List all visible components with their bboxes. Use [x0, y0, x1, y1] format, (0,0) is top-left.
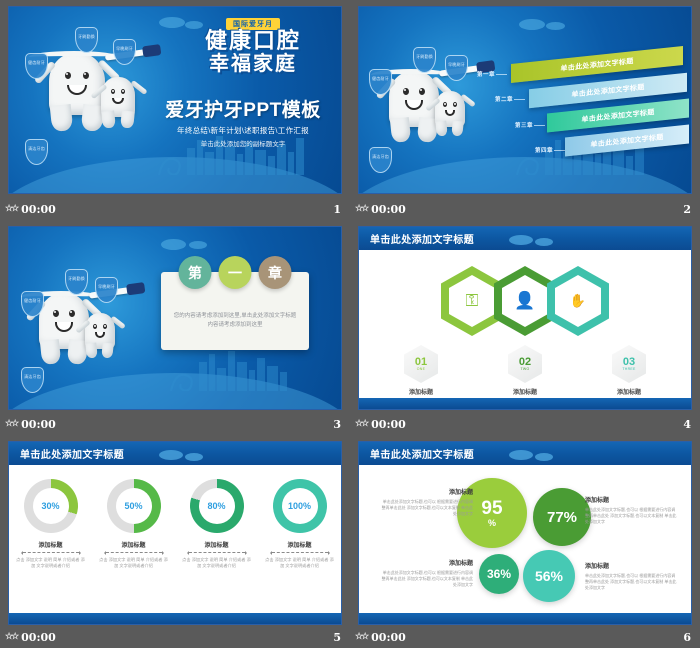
pie-text-block-3: 添加标题 单击此处添加文字标题,也可以 根据需要进行内容调整再单击此处 添加文字… [381, 558, 473, 588]
pie-description: 单击此处添加文字标题,也可以 根据需要进行内容调整再单击此处 添加文字标题,也可… [585, 507, 677, 525]
slide-1[interactable]: 健齿耐牙 牙刷勤换 早晚刷牙 清洁牙齿 国际爱牙月 健康口腔 幸福家庭 爱牙护牙… [8, 6, 342, 194]
donut-description: 点击 添加文字 说明 简单 介绍或者 添加 文字说明或者介绍 [99, 557, 169, 569]
star-icon: ☆☆ [355, 632, 367, 642]
slide-cell-3[interactable]: 健齿耐牙 牙刷勤换 早晚刷牙 清洁牙齿 第 一 章 您的内容请考虑添加到这里,单… [0, 220, 350, 435]
pie-circle-36[interactable]: 36% [479, 554, 519, 594]
cloud-shape [159, 450, 183, 460]
donut-description: 点击 添加文字 说明 简单 介绍或者 添加 文字说明或者介绍 [16, 557, 86, 569]
pie-value: 77% [547, 510, 577, 525]
ribbon-label-1: 第一章 [477, 70, 495, 78]
pie-circle-56[interactable]: 56% [523, 550, 575, 602]
pie-description: 单击此处添加文字标题,也可以 根据需要进行内容调整再单击此处 添加文字标题,也可… [381, 499, 473, 517]
pie-cluster: 95 % 77% 36% 56% [461, 478, 589, 606]
tooth-mascot-small [435, 91, 465, 135]
item-number-label: ONE [417, 367, 426, 371]
slide-1-subtitle-2: 单击此处添加您的副标题文字 [153, 138, 333, 148]
star-icon: ☆☆ [355, 204, 367, 214]
donut-item[interactable]: 30% 添加标题 点击 添加文字 说明 简单 介绍或者 添加 文字说明或者介绍 [16, 479, 86, 569]
slide-4-title: 单击此处添加文字标题 [370, 231, 474, 246]
donut-chart-100: 100% [273, 479, 327, 533]
slide-timer: 00:00 [21, 631, 56, 644]
cloud-shape [185, 453, 203, 461]
divider [23, 552, 79, 553]
slide-timer: 00:00 [371, 631, 406, 644]
cloud-shape [509, 450, 533, 460]
slide-1-subtitle-1: 年终总结\新年计划\述职报告\工作汇报 [153, 125, 333, 136]
chapter-char-3: 章 [259, 256, 292, 289]
slide-1-title: 爱牙护牙PPT模板 [153, 95, 333, 122]
item-caption: 添加标题 [493, 387, 557, 396]
pie-text-block-4: 添加标题 单击此处添加文字标题,也可以 根据需要进行内容调整再单击此处 添加文字… [585, 561, 677, 591]
cloud-shape [519, 19, 545, 30]
dental-chair-icon: ⚿ [449, 275, 495, 327]
chapter-circles: 第 一 章 [179, 256, 292, 289]
slide-6[interactable]: 单击此处添加文字标题 95 % 77% 36% [358, 441, 692, 625]
number-hexagon-1: 01 ONE [404, 345, 438, 383]
slide-cell-2[interactable]: 健齿耐牙 牙刷勤换 早晚刷牙 清洁牙齿 第一章 单击此处添加文字标题 第二章 单… [350, 0, 700, 220]
ribbon-label-2: 第二章 [495, 95, 513, 103]
slide-6-title: 单击此处添加文字标题 [370, 446, 474, 461]
hexagon-2[interactable]: 👤 [494, 266, 556, 336]
slide-cell-1[interactable]: 健齿耐牙 牙刷勤换 早晚刷牙 清洁牙齿 国际爱牙月 健康口腔 幸福家庭 爱牙护牙… [0, 0, 350, 220]
slide-4-footer-bar [359, 398, 691, 409]
pie-caption: 添加标题 [381, 558, 473, 567]
cloud-shape [535, 453, 553, 461]
item-caption: 添加标题 [597, 387, 661, 396]
donut-caption: 添加标题 [182, 540, 252, 549]
chapter-card[interactable]: 第 一 章 您的内容请考虑添加到这里,单击此处添加文字标题内容请考虑添加到这里 [161, 272, 309, 350]
pie-value: 36% [487, 568, 511, 580]
slide-number: 4 [683, 418, 691, 431]
slide-cell-4[interactable]: 单击此处添加文字标题 ⚿ 👤 ✋ [350, 220, 700, 435]
slide-2[interactable]: 健齿耐牙 牙刷勤换 早晚刷牙 清洁牙齿 第一章 单击此处添加文字标题 第二章 单… [358, 6, 692, 194]
slide-4-footer: ☆☆00:00 4 [350, 413, 700, 435]
pie-value: 95 [481, 499, 502, 518]
ribbon-4[interactable]: 单击此处添加文字标题 [565, 124, 689, 156]
donut-item[interactable]: 50% 添加标题 点击 添加文字 说明 简单 介绍或者 添加 文字说明或者介绍 [99, 479, 169, 569]
slide-2-footer: ☆☆00:00 2 [350, 198, 700, 220]
slide-1-title-block: 爱牙护牙PPT模板 年终总结\新年计划\述职报告\工作汇报 单击此处添加您的副标… [153, 95, 333, 148]
pie-caption: 添加标题 [585, 495, 677, 504]
pie-circle-77[interactable]: 77% [533, 488, 591, 546]
hexagon-row: ⚿ 👤 ✋ [441, 266, 609, 336]
item-caption: 添加标题 [389, 387, 453, 396]
star-icon: ☆☆ [5, 204, 17, 214]
slide-6-header: 单击此处添加文字标题 [359, 442, 691, 465]
ribbon-chart: 第一章 单击此处添加文字标题 第二章 单击此处添加文字标题 第三章 单击此处添加… [477, 43, 687, 153]
slide-number: 1 [333, 203, 341, 216]
star-icon: ☆☆ [5, 419, 17, 429]
banner-line-1: 健康口腔 [175, 31, 331, 53]
donut-item[interactable]: 100% 添加标题 点击 添加文字 说明 简单 介绍或者 添加 文字说明或者介绍 [265, 479, 335, 569]
slide-5-footer: ☆☆00:00 5 [0, 626, 350, 648]
star-icon: ☆☆ [5, 632, 17, 642]
pie-description: 单击此处添加文字标题,也可以 根据需要进行内容调整再单击此处 添加文字标题,也可… [585, 573, 677, 591]
donut-value: 100% [282, 488, 318, 524]
star-icon: ☆☆ [355, 419, 367, 429]
chapter-char-2: 一 [219, 256, 252, 289]
slide-timer: 00:00 [371, 203, 406, 216]
item-number: 01 [415, 357, 427, 367]
slide-number: 6 [683, 631, 691, 644]
hexagon-1[interactable]: ⚿ [441, 266, 503, 336]
slide-cell-6[interactable]: 单击此处添加文字标题 95 % 77% 36% [350, 435, 700, 648]
pie-caption: 添加标题 [381, 487, 473, 496]
slide-cell-5[interactable]: 单击此处添加文字标题 30% 添加标题 点击 添加文字 说明 简单 介绍或者 添… [0, 435, 350, 648]
item-number: 02 [519, 357, 531, 367]
donut-value: 50% [116, 488, 152, 524]
pie-text-block-1: 添加标题 单击此处添加文字标题,也可以 根据需要进行内容调整再单击此处 添加文字… [381, 487, 473, 517]
item-number-label: THREE [622, 367, 635, 371]
pie-percent-sign: % [488, 518, 496, 528]
caring-hand-icon: ✋ [555, 275, 601, 327]
pie-text-block-2: 添加标题 单击此处添加文字标题,也可以 根据需要进行内容调整再单击此处 添加文字… [585, 495, 677, 525]
divider [106, 552, 162, 553]
slide-6-body: 95 % 77% 36% 56% 添加标题 单击此处添加文字标题,也可以 [359, 465, 691, 613]
slide-6-footer-bar [359, 613, 691, 624]
ribbon-label-3: 第三章 [515, 121, 533, 129]
donut-description: 点击 添加文字 说明 简单 介绍或者 添加 文字说明或者介绍 [265, 557, 335, 569]
chapter-body-text: 您的内容请考虑添加到这里,单击此处添加文字标题内容请考虑添加到这里 [173, 312, 297, 330]
cloud-shape [189, 241, 207, 249]
donut-description: 点击 添加文字 说明 简单 介绍或者 添加 文字说明或者介绍 [182, 557, 252, 569]
tooth-mascot-small [85, 313, 115, 357]
slide-4-header: 单击此处添加文字标题 [359, 227, 691, 250]
donut-value: 30% [33, 488, 69, 524]
slide-number: 2 [683, 203, 691, 216]
banner-line-2: 幸福家庭 [175, 53, 331, 74]
tooth-mascot-small [101, 77, 135, 125]
donut-chart-30: 30% [24, 479, 78, 533]
cloud-shape [509, 235, 533, 245]
headline-banner: 国际爱牙月 健康口腔 幸福家庭 [175, 13, 331, 74]
item-number-label: TWO [520, 367, 529, 371]
donut-chart-80: 80% [190, 479, 244, 533]
donut-chart-row: 30% 添加标题 点击 添加文字 说明 简单 介绍或者 添加 文字说明或者介绍 … [9, 479, 341, 569]
slide-1-footer: ☆☆00:00 1 [0, 198, 350, 220]
slide-3[interactable]: 健齿耐牙 牙刷勤换 早晚刷牙 清洁牙齿 第 一 章 您的内容请考虑添加到这里,单… [8, 226, 342, 410]
divider [272, 552, 328, 553]
slide-number: 5 [333, 631, 341, 644]
pie-caption: 添加标题 [585, 561, 677, 570]
item-number: 03 [623, 357, 635, 367]
pie-value: 56% [535, 569, 563, 583]
donut-item[interactable]: 80% 添加标题 点击 添加文字 说明 简单 介绍或者 添加 文字说明或者介绍 [182, 479, 252, 569]
donut-caption: 添加标题 [99, 540, 169, 549]
donut-value: 80% [199, 488, 235, 524]
cloud-shape [546, 22, 565, 30]
divider [189, 552, 245, 553]
slide-thumbnail-grid: 健齿耐牙 牙刷勤换 早晚刷牙 清洁牙齿 国际爱牙月 健康口腔 幸福家庭 爱牙护牙… [0, 0, 700, 648]
slide-timer: 00:00 [21, 203, 56, 216]
cloud-shape [535, 238, 553, 246]
dentist-person-icon: 👤 [502, 275, 548, 327]
slide-timer: 00:00 [21, 418, 56, 431]
slide-5-header: 单击此处添加文字标题 [9, 442, 341, 465]
hexagon-3[interactable]: ✋ [547, 266, 609, 336]
donut-caption: 添加标题 [265, 540, 335, 549]
slide-timer: 00:00 [371, 418, 406, 431]
slide-5[interactable]: 单击此处添加文字标题 30% 添加标题 点击 添加文字 说明 简单 介绍或者 添… [8, 441, 342, 625]
ribbon-label-4: 第四章 [535, 146, 553, 154]
slide-5-title: 单击此处添加文字标题 [20, 446, 124, 461]
number-hexagon-3: 03 THREE [612, 345, 646, 383]
donut-chart-50: 50% [107, 479, 161, 533]
slide-number: 3 [333, 418, 341, 431]
pie-description: 单击此处添加文字标题,也可以 根据需要进行内容调整再单击此处 添加文字标题,也可… [381, 570, 473, 588]
slide-4-body: ⚿ 👤 ✋ 01 ONE 添加标题 [359, 250, 691, 398]
slide-6-footer: ☆☆00:00 6 [350, 626, 700, 648]
donut-caption: 添加标题 [16, 540, 86, 549]
number-hexagon-2: 02 TWO [508, 345, 542, 383]
slide-5-footer-bar [9, 613, 341, 624]
slide-4[interactable]: 单击此处添加文字标题 ⚿ 👤 ✋ [358, 226, 692, 410]
slide-5-body: 30% 添加标题 点击 添加文字 说明 简单 介绍或者 添加 文字说明或者介绍 … [9, 465, 341, 613]
chapter-char-1: 第 [179, 256, 212, 289]
slide-3-footer: ☆☆00:00 3 [0, 413, 350, 435]
cloud-shape [161, 239, 186, 250]
